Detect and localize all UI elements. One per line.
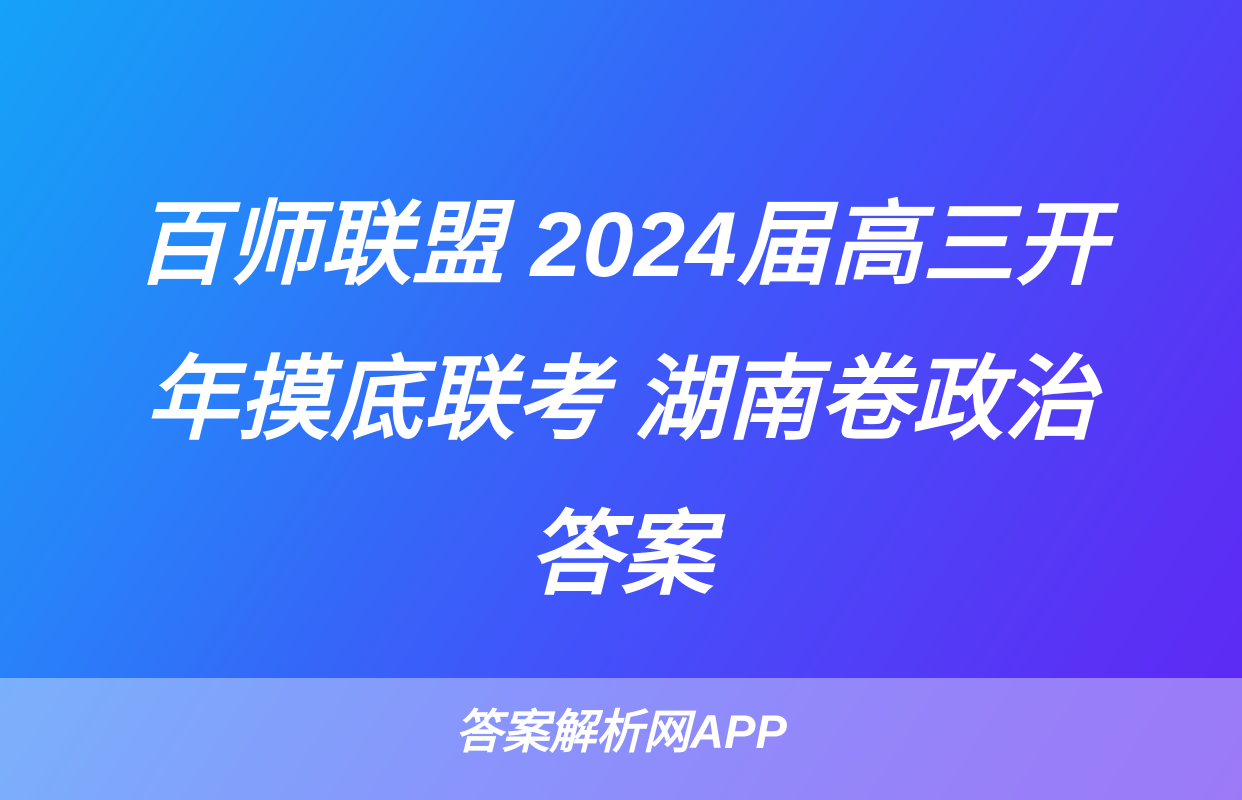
page-title: 百师联盟 2024届高三开 年摸底联考 湖南卷政治 答案 [0, 168, 1242, 633]
poster-canvas: 百师联盟 2024届高三开 年摸底联考 湖南卷政治 答案 答案解析网APP [0, 0, 1242, 800]
watermark-app-name: 答案解析网APP [0, 702, 1242, 762]
title-line-2: 年摸底联考 湖南卷政治 [36, 323, 1206, 478]
title-line-1: 百师联盟 2024届高三开 [36, 168, 1206, 323]
title-line-3: 答案 [36, 478, 1206, 633]
